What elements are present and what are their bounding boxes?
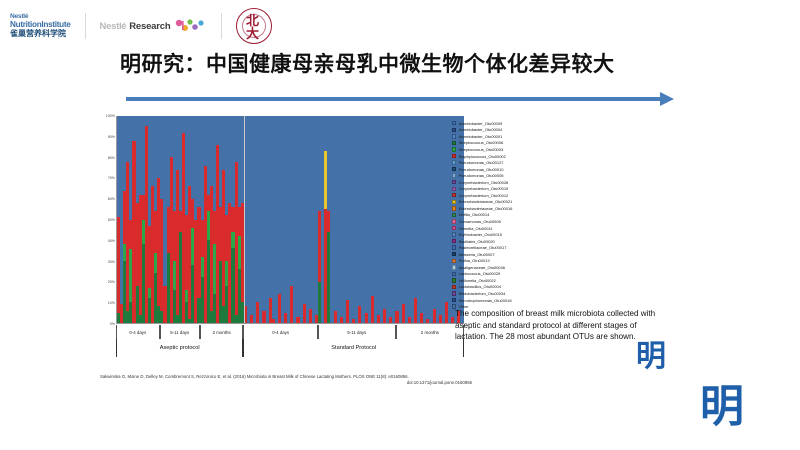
legend-label: Pseudomonas_Otu00010 <box>459 167 504 172</box>
legend-label: Lactococcus_Otu00029 <box>459 271 501 276</box>
legend-label: Neisseria_Otu00007 <box>459 252 495 257</box>
legend-label: Veillonella_Otu00022 <box>459 278 496 283</box>
legend-color-swatch <box>452 285 456 289</box>
legend-label: Rothia_Otu00013 <box>459 258 490 263</box>
legend-label: Alcaligenaceae_Otu00046 <box>459 265 505 270</box>
nni-logo-line3: 雀巢营养科学院 <box>10 30 71 38</box>
legend-color-swatch <box>452 219 456 223</box>
legend-color-swatch <box>452 193 456 197</box>
x-axis-stage-group: 2 months <box>396 325 464 339</box>
x-axis-stage-label: 2 months <box>421 330 439 335</box>
legend-color-swatch <box>452 180 456 184</box>
citation-reference: Sakwinska O, Moine D, Delley M, Combremo… <box>100 374 409 379</box>
legend-color-swatch <box>452 206 456 210</box>
legend-label: Enterobacteriaceae_Otu00016 <box>459 206 513 211</box>
legend-label: Acinetobacter_Otu00009 <box>459 121 503 126</box>
legend-color-swatch <box>452 134 456 138</box>
x-axis-stage-group: 0-4 days <box>243 325 318 339</box>
legend-label: Stenotrophomonas_Otu00018 <box>459 298 512 303</box>
legend-color-swatch <box>452 167 456 171</box>
y-axis-tick: 10% <box>108 301 115 305</box>
legend-color-swatch <box>452 226 456 230</box>
legend-label: Erythrobacter_Otu00015 <box>459 232 502 237</box>
x-axis-protocol-group: Aseptic protocol <box>116 339 243 357</box>
arrow-head <box>660 92 674 106</box>
legend-label: Delftia_Otu00014 <box>459 212 490 217</box>
legend-color-swatch <box>452 239 456 243</box>
x-axis-stage-label: 5-11 days <box>170 330 189 335</box>
nestle-research-brand: Nestlé <box>100 21 127 32</box>
progress-arrow-icon <box>126 92 674 106</box>
legend-color-swatch <box>452 187 456 191</box>
nestle-research-word: Research <box>129 21 170 32</box>
legend-color-swatch <box>452 147 456 151</box>
citation-text: Sakwinska O, Moine D, Delley M, Combremo… <box>100 374 500 387</box>
y-axis-tick: 20% <box>108 280 115 284</box>
chart-legend: Acinetobacter_Otu00009Acinetobacter_Otu0… <box>452 120 582 310</box>
x-axis-protocol-label: Standard Protocol <box>331 345 376 351</box>
legend-color-swatch <box>452 128 456 132</box>
legend-color-swatch <box>452 298 456 302</box>
x-axis-stage-group: 0-4 days <box>116 325 160 339</box>
nestle-research-logo: Nestlé Research <box>100 18 208 34</box>
legend-color-swatch <box>452 265 456 269</box>
page-title: 明研究：中国健康母亲母乳中微生物个体化差异较大 <box>120 48 740 78</box>
legend-color-swatch <box>452 213 456 217</box>
dots-mark-icon <box>173 18 207 34</box>
legend-color-swatch <box>452 160 456 164</box>
pku-seal-glyph: 北大 <box>246 14 263 40</box>
figure-caption: The composition of breast milk microbiot… <box>455 308 670 343</box>
logo-divider-2 <box>221 13 222 39</box>
legend-label: Gemella_Otu00011 <box>459 226 493 231</box>
legend-color-swatch <box>452 121 456 125</box>
legend-color-swatch <box>452 272 456 276</box>
legend-color-swatch <box>452 252 456 256</box>
y-axis-tick: 40% <box>108 239 115 243</box>
legend-label: Corynebacterium_Otu00012 <box>459 193 509 198</box>
ming-watermark-small: 明 <box>636 340 682 376</box>
legend-label: Streptococcus_Otu00006 <box>459 140 504 145</box>
legend-color-swatch <box>452 173 456 177</box>
legend-label: Bifidobacterium_Otu00034 <box>459 291 506 296</box>
x-axis-stage-group: 5-11 days <box>160 325 200 339</box>
y-axis-tick: 100% <box>106 114 115 118</box>
arrow-shaft <box>126 97 660 101</box>
x-axis-stage-label: 0-4 days <box>129 330 146 335</box>
citation-doi: doi:10.1371/journal.pone.0160856 <box>100 380 472 386</box>
x-axis-stage-label: 5-11 days <box>347 330 366 335</box>
y-axis-tick: 30% <box>108 260 115 264</box>
y-axis-tick: 70% <box>108 176 115 180</box>
legend-label: Streptococcus_Otu00003 <box>459 147 504 152</box>
legend-color-swatch <box>452 259 456 263</box>
legend-color-swatch <box>452 141 456 145</box>
legend-label: Acinetobacter_Otu00004 <box>459 127 503 132</box>
nni-logo-line2: NutritionInstitute <box>10 21 71 29</box>
stacked-bar-plot <box>116 116 464 324</box>
x-axis-protocol-label: Aseptic protocol <box>160 345 200 351</box>
legend-color-swatch <box>452 278 456 282</box>
legend-label: Comamonas_Otu00008 <box>459 219 501 224</box>
y-axis-tick: 60% <box>108 197 115 201</box>
x-axis-stage-group: 5-11 days <box>318 325 396 339</box>
x-axis-stage-group: 2 months <box>200 325 244 339</box>
legend-label: Pasteurellaceae_Otu00017 <box>459 245 507 250</box>
ming-glyph-large: 明 <box>700 381 741 432</box>
ming-glyph-small: 明 <box>636 339 664 374</box>
legend-label: Corynebacterium_Otu00019 <box>459 186 509 191</box>
x-axis-stage-label: 2 months <box>213 330 231 335</box>
legend-label: Acinetobacter_Otu00001 <box>459 134 503 139</box>
y-axis-tick: 80% <box>108 156 115 160</box>
x-axis-protocol-group: Standard Protocol <box>243 339 464 357</box>
legend-color-swatch <box>452 245 456 249</box>
figure-container: 0%10%20%30%40%50%60%70%80%90%100% 0-4 da… <box>100 116 685 382</box>
legend-label: Pseudomonas_Otu00005 <box>459 173 504 178</box>
legend-color-swatch <box>452 232 456 236</box>
nestle-nutrition-institute-logo: Nestlé NutritionInstitute 雀巢营养科学院 <box>10 14 71 38</box>
legend-label: Corynebacterium_Otu00028 <box>459 180 509 185</box>
legend-label: Enterobacteriaceae_Otu00021 <box>459 199 513 204</box>
ming-watermark-large: 明 <box>700 382 778 434</box>
legend-label: Staphylococcus_Otu00002 <box>459 154 506 159</box>
y-axis-tick: 50% <box>108 218 115 222</box>
y-axis: 0%10%20%30%40%50%60%70%80%90%100% <box>100 112 116 326</box>
legend-label: Pseudomonas_Otu00127 <box>459 160 504 165</box>
legend-label: Lactobacillus_Otu00004 <box>459 284 501 289</box>
protocol-separator <box>244 116 245 323</box>
legend-label: Bacillales_Otu00020 <box>459 239 495 244</box>
legend-color-swatch <box>452 291 456 295</box>
x-axis-stage-label: 0-4 days <box>272 330 289 335</box>
legend-color-swatch <box>452 200 456 204</box>
legend-color-swatch <box>452 154 456 158</box>
logo-divider <box>85 13 86 39</box>
logo-bar: Nestlé NutritionInstitute 雀巢营养科学院 Nestlé… <box>10 8 272 44</box>
x-axis-groups: 0-4 days5-11 days2 monthsAseptic protoco… <box>116 325 464 361</box>
slide-canvas: Nestlé NutritionInstitute 雀巢营养科学院 Nestlé… <box>0 0 800 450</box>
y-axis-tick: 0% <box>110 322 115 326</box>
peking-university-seal-icon: 北大 <box>236 8 272 44</box>
y-axis-tick: 90% <box>108 135 115 139</box>
